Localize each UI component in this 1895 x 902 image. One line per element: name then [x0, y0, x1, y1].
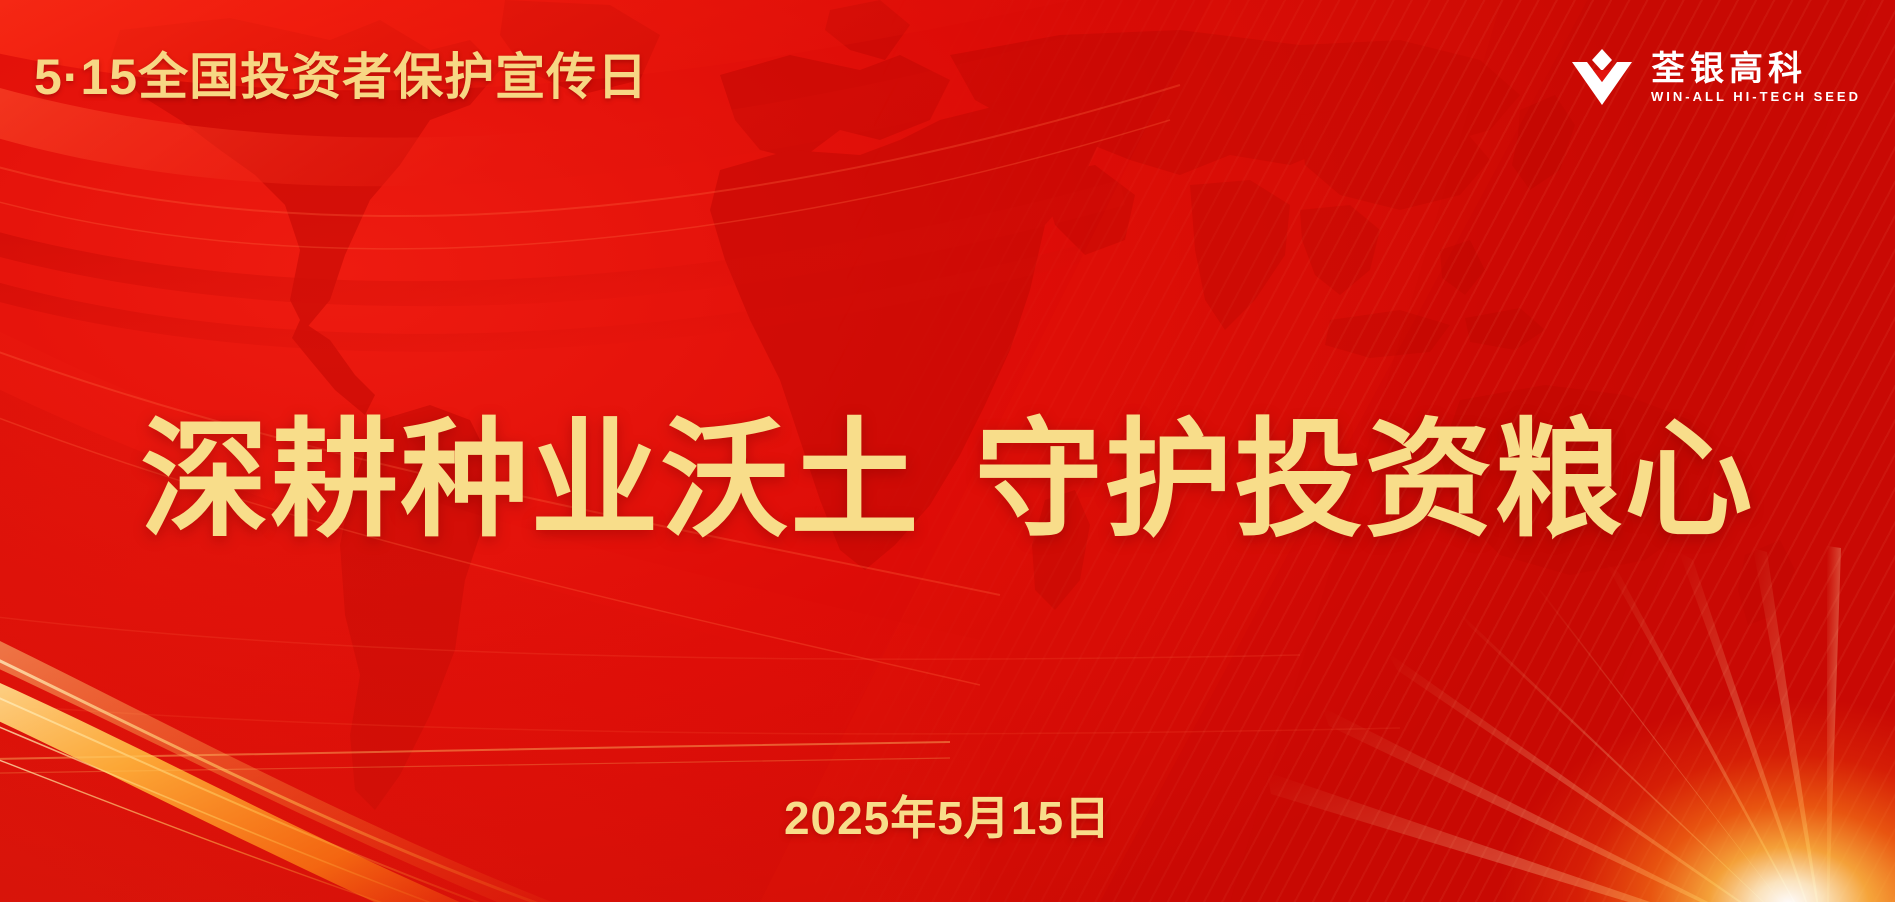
eyebrow-title: 5·15全国投资者保护宣传日 — [34, 52, 648, 102]
logo-wordmark: 荃银高科 WIN-ALL HI-TECH SEED — [1651, 52, 1861, 103]
investor-protection-banner: 5·15全国投资者保护宣传日 荃银高科 WIN-ALL HI-TECH SEED… — [0, 0, 1895, 902]
page-title: 深耕种业沃土守护投资粮心 — [0, 412, 1895, 550]
company-logo: 荃银高科 WIN-ALL HI-TECH SEED — [1569, 48, 1861, 106]
logo-name-en: WIN-ALL HI-TECH SEED — [1651, 90, 1861, 103]
chevron-diamond-logo-icon — [1569, 48, 1635, 106]
headline-phrase-right: 守护投资粮心 — [975, 409, 1755, 552]
event-date: 2025年5月15日 — [0, 795, 1895, 841]
logo-name-cn: 荃银高科 — [1651, 52, 1807, 86]
headline-phrase-left: 深耕种业沃土 — [140, 409, 920, 552]
